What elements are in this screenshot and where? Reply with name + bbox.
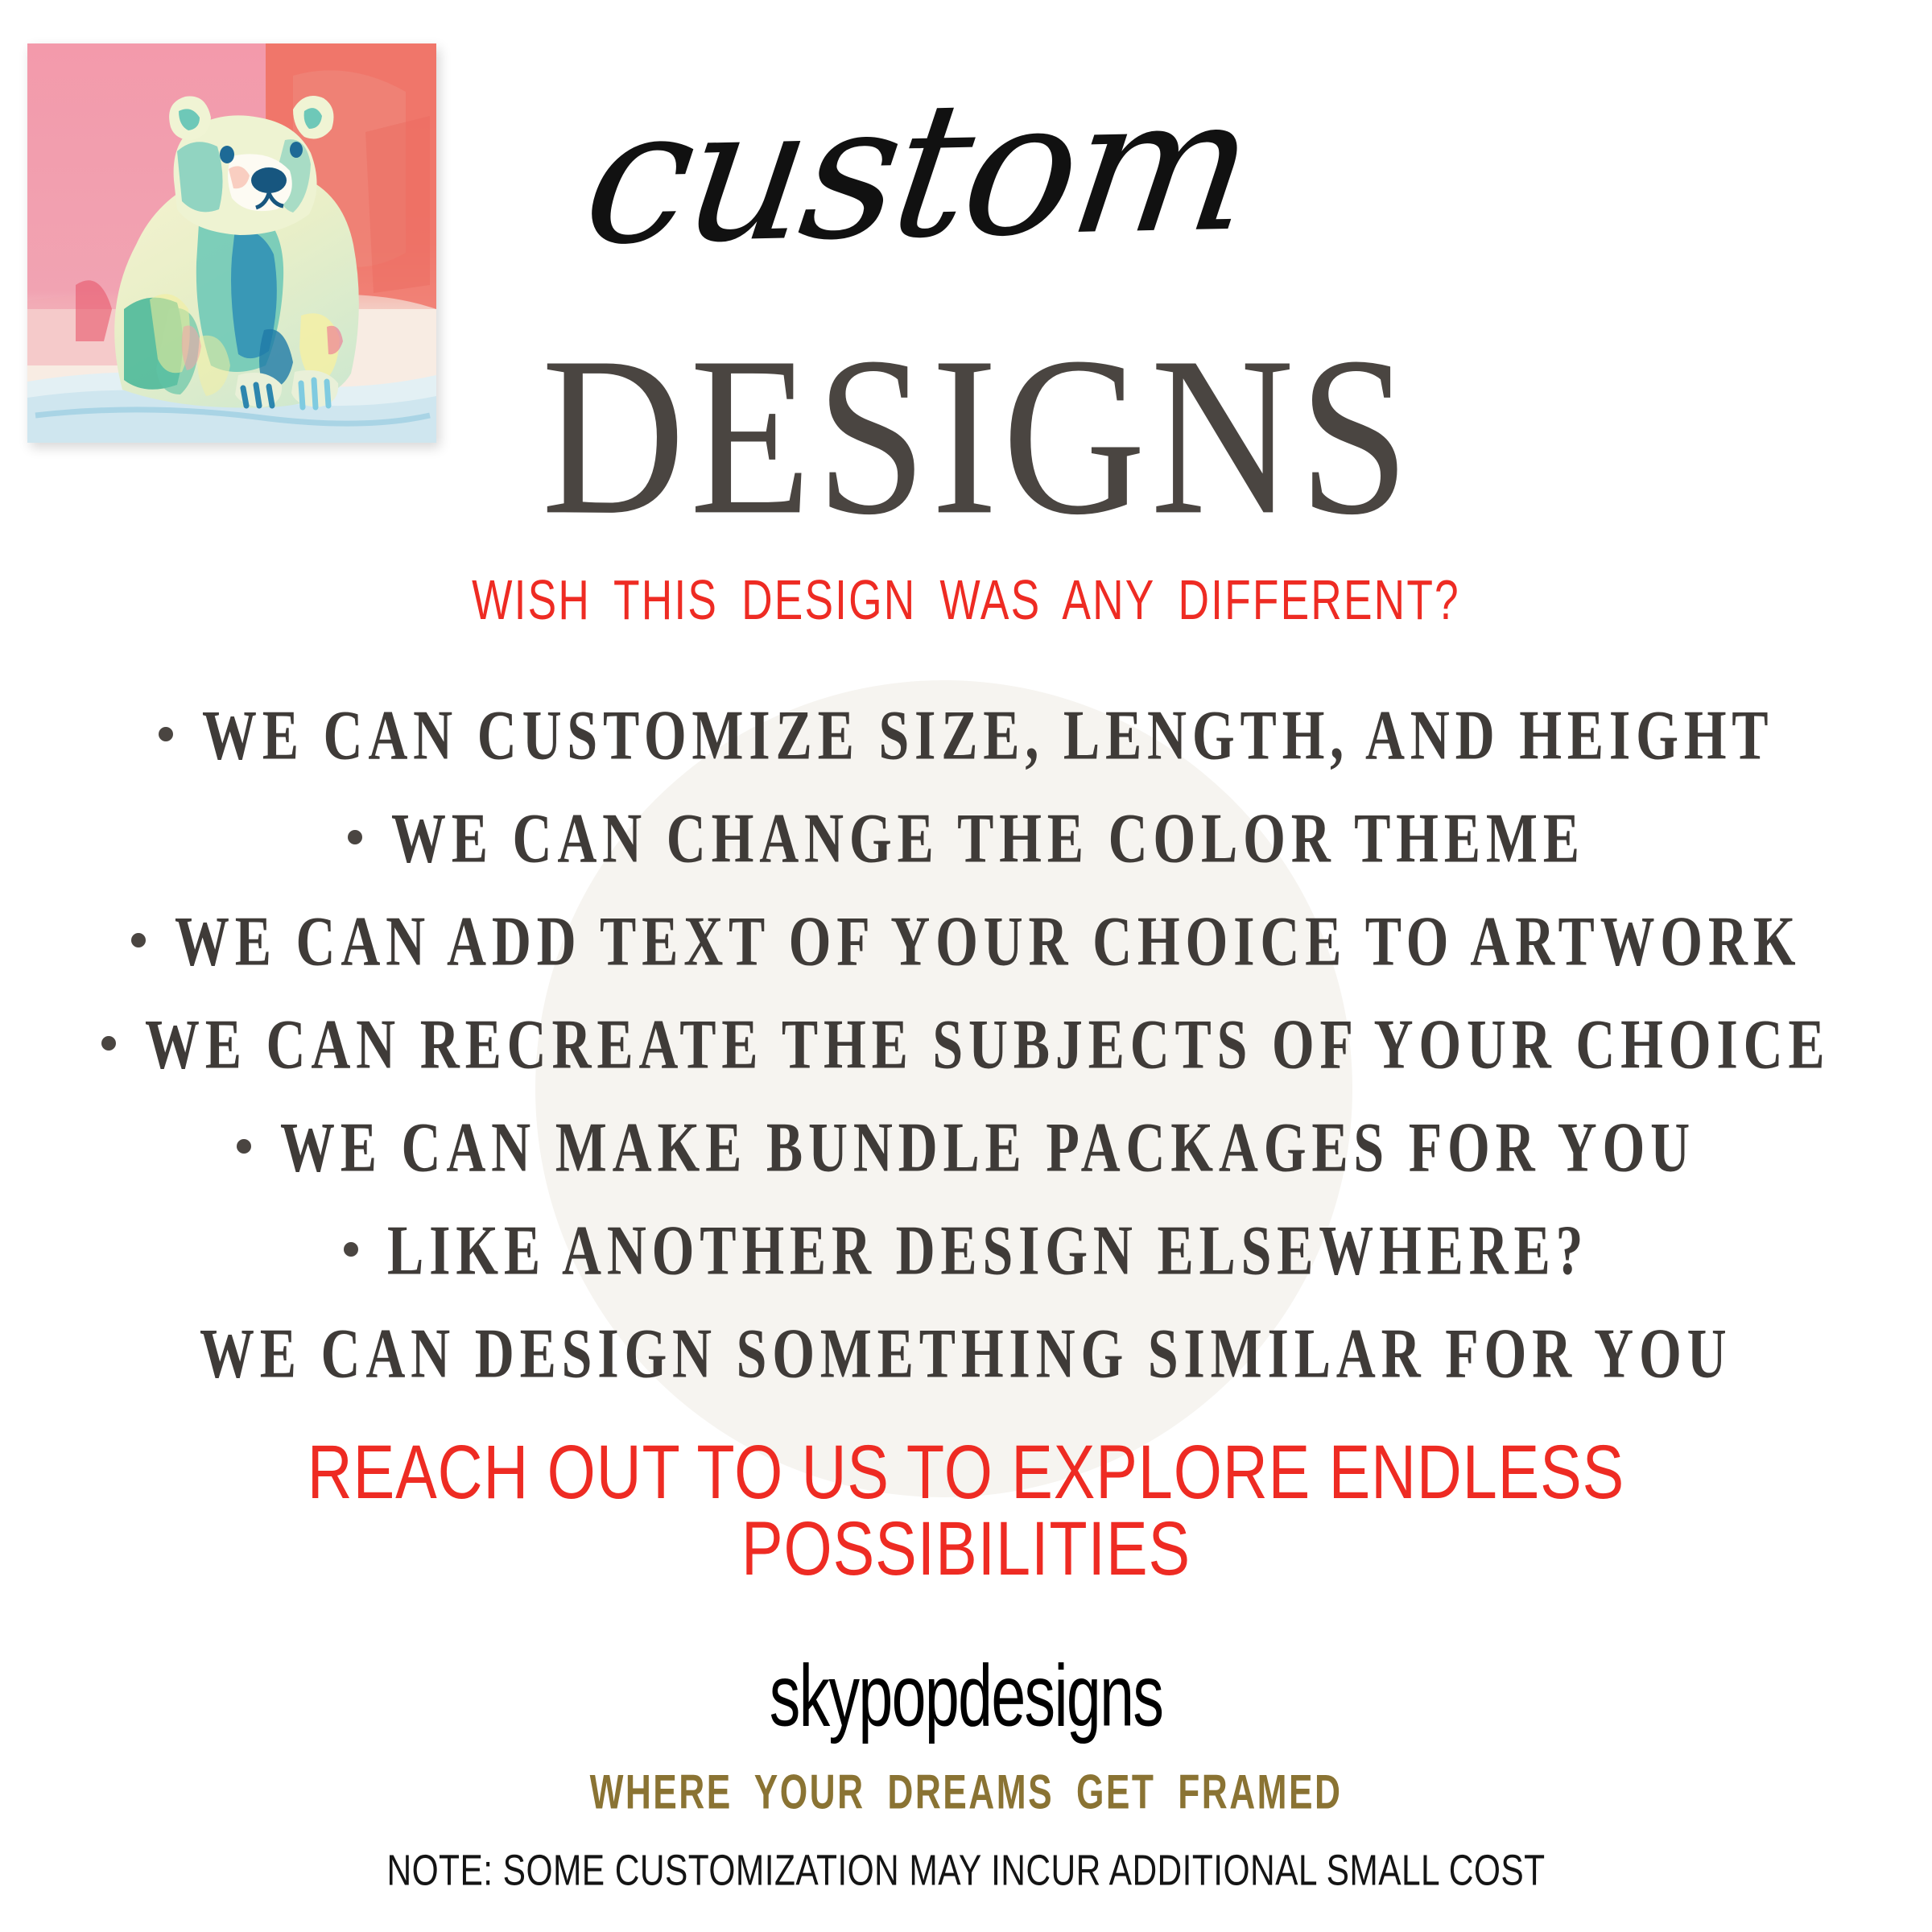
list-item: WE CAN CHANGE THE COLOR THEME [0, 811, 1932, 914]
benefit-continuation-label: WE CAN DESIGN SOMETHING SIMILAR FOR YOU [200, 1319, 1732, 1390]
list-item: LIKE ANOTHER DESIGN ELSEWHERE? [0, 1224, 1932, 1327]
bullet-dot-icon [344, 1242, 358, 1257]
list-item-continuation: WE CAN DESIGN SOMETHING SIMILAR FOR YOU [0, 1327, 1932, 1430]
artwork-thumbnail [27, 43, 436, 443]
brand-tagline: WHERE YOUR DREAMS GET FRAMED [174, 1768, 1758, 1816]
list-item: WE CAN RECREATE THE SUBJECTS OF YOUR CHO… [0, 1018, 1932, 1121]
benefit-label: WE CAN CHANGE THE COLOR THEME [391, 804, 1585, 875]
bullet-dot-icon [348, 830, 362, 844]
list-item: WE CAN MAKE BUNDLE PACKAGES FOR YOU [0, 1121, 1932, 1224]
benefit-label: WE CAN ADD TEXT OF YOUR CHOICE TO ARTWOR… [175, 907, 1801, 978]
brand-logo-wordmark: skypopdesigns [174, 1652, 1758, 1740]
bullet-dot-icon [159, 727, 173, 741]
list-item: WE CAN CUSTOMIZE SIZE, LENGTH, AND HEIGH… [0, 708, 1932, 811]
list-item: WE CAN ADD TEXT OF YOUR CHOICE TO ARTWOR… [0, 914, 1932, 1018]
benefit-label: WE CAN MAKE BUNDLE PACKAGES FOR YOU [280, 1113, 1695, 1184]
benefits-list: WE CAN CUSTOMIZE SIZE, LENGTH, AND HEIGH… [0, 708, 1932, 1430]
benefit-label: WE CAN CUSTOMIZE SIZE, LENGTH, AND HEIGH… [202, 701, 1773, 772]
page-subtitle: WISH THIS DESIGN WAS ANY DIFFERENT? [135, 573, 1797, 629]
bullet-dot-icon [101, 1036, 116, 1051]
call-to-action: REACH OUT TO US TO EXPLORE ENDLESS POSSI… [97, 1435, 1835, 1587]
benefit-label: WE CAN RECREATE THE SUBJECTS OF YOUR CHO… [145, 1010, 1831, 1081]
polar-bear-painting-icon [27, 43, 436, 443]
bullet-dot-icon [131, 933, 146, 947]
bullet-dot-icon [237, 1139, 251, 1154]
benefit-label: LIKE ANOTHER DESIGN ELSEWHERE? [387, 1216, 1588, 1287]
footer-note: NOTE: SOME CUSTOMIZATION MAY INCUR ADDIT… [145, 1848, 1787, 1892]
